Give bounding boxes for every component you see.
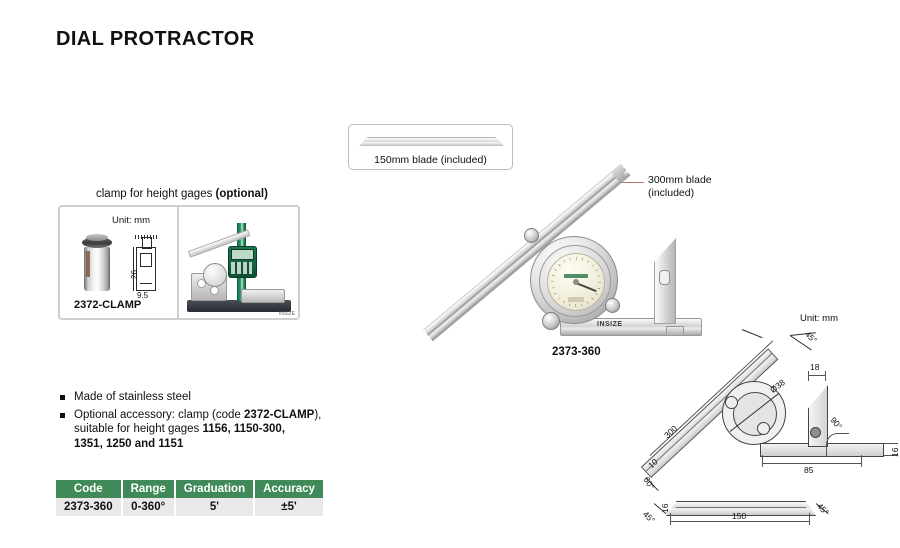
- clamp-unit-label: Unit: mm: [112, 215, 150, 226]
- feature-item-1: Made of stainless steel: [58, 390, 378, 405]
- clamp-line-drawing: 26 9.5: [132, 233, 160, 293]
- feature-list: Made of stainless steel Optional accesso…: [58, 390, 378, 454]
- tech-dim-blade150-angle-left: 45°: [641, 509, 657, 525]
- clamp-photo-knob-top: [86, 234, 108, 241]
- tech-dim-vertical-width: 18: [810, 362, 819, 372]
- protractor-clamp-screw-top: [524, 228, 539, 243]
- feature-item-2-post: ),: [314, 409, 321, 421]
- spec-cell-range: 0-360°: [122, 498, 175, 516]
- tech-dim-vertical-angle: 90°: [828, 415, 844, 431]
- tech-vertical-blade: [808, 385, 828, 447]
- clamp-dim-height: 26: [130, 270, 139, 279]
- tech-vertical-blade-hole: [810, 427, 821, 438]
- spec-header-accuracy: Accuracy: [254, 480, 323, 498]
- tech-dim-top-angle: 45°: [803, 329, 819, 345]
- brand-plate: INSIZE: [597, 321, 623, 328]
- page-title: DIAL PROTRACTOR: [56, 28, 255, 51]
- feature-item-2-pre: Optional accessory: clamp (code: [74, 409, 244, 421]
- feature-item-2-line3-codes: 1351, 1250 and 1151: [74, 438, 183, 450]
- tech-dial-hole-1: [725, 396, 738, 409]
- spec-header-graduation: Graduation: [175, 480, 254, 498]
- tech-unit-label: Unit: mm: [800, 313, 838, 324]
- clamp-panel-caption: clamp for height gages (optional): [96, 188, 268, 200]
- protractor-dial-bezel: [539, 245, 611, 317]
- clamp-caption-optional: (optional): [216, 188, 268, 200]
- clamp-panel-left: Unit: mm 26 9.5 2372-CLAMP: [60, 207, 179, 318]
- spec-table: Code Range Graduation Accuracy 2373-360 …: [56, 480, 323, 516]
- feature-item-2-line2-pre: suitable for height gages: [74, 423, 203, 435]
- clamp-panel-right-photo: INSIZE: [179, 207, 298, 318]
- tech-dial-hole-2: [757, 422, 770, 435]
- spec-header-range: Range: [122, 480, 175, 498]
- mounted-protractor: [191, 247, 243, 301]
- feature-item-2-line3: 1351, 1250 and 1151: [74, 437, 378, 452]
- spec-cell-accuracy: ±5': [254, 498, 323, 516]
- clamp-model-label: 2372-CLAMP: [74, 299, 141, 311]
- feature-item-2-line2: suitable for height gages 1156, 1150-300…: [74, 422, 378, 437]
- mounted-protractor-dial: [203, 263, 227, 287]
- photo-brand-mark: INSIZE: [279, 311, 295, 317]
- tech-dim-base-length: 85: [804, 465, 813, 475]
- protractor-blade-slot: [659, 270, 670, 285]
- protractor-dial-body: [530, 236, 618, 324]
- table-row: 2373-360 0-360° 5' ±5': [56, 498, 323, 516]
- feature-item-2-line2-codes: 1156, 1150-300,: [203, 423, 286, 435]
- feature-item-2: Optional accessory: clamp (code 2372-CLA…: [58, 408, 378, 452]
- feature-item-1-text: Made of stainless steel: [74, 391, 191, 403]
- tech-dim-blade150-length: 150: [732, 511, 746, 521]
- protractor-clamp-screw-right: [605, 298, 620, 313]
- protractor-dial-face: [547, 253, 605, 311]
- clamp-caption-text: clamp for height gages: [96, 188, 216, 200]
- tech-dim-base-thickness: 16: [890, 448, 900, 457]
- feature-item-2-code: 2372-CLAMP: [244, 409, 314, 421]
- spec-table-header-row: Code Range Graduation Accuracy: [56, 480, 323, 498]
- tech-dim-blade-end-angle: 60°: [642, 475, 657, 491]
- spec-cell-code: 2373-360: [56, 498, 122, 516]
- clamp-photo-body: [84, 247, 110, 291]
- spec-cell-graduation: 5': [175, 498, 254, 516]
- spec-header-code: Code: [56, 480, 122, 498]
- technical-drawing: Unit: mm 45° 300 Ø38 85 16 18 90° 10 60°…: [640, 305, 900, 545]
- product-model-label: 2373-360: [552, 346, 601, 358]
- protractor-fine-adjust-knob: [542, 312, 560, 330]
- height-gage-foot: [241, 289, 285, 303]
- clamp-panel: Unit: mm 26 9.5 2372-CLAMP: [58, 205, 300, 320]
